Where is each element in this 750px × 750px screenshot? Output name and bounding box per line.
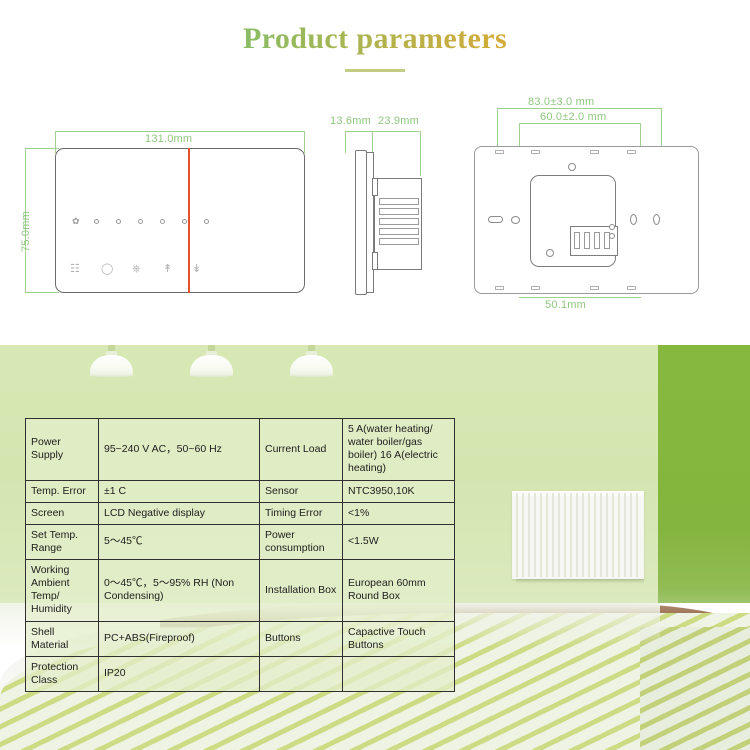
spec-value: 5～45℃	[99, 524, 260, 559]
spec-value2: Capactive Touch Buttons	[343, 621, 455, 656]
indicator-dot	[94, 219, 99, 224]
terminal-pin	[584, 232, 590, 249]
lamp-rim	[290, 373, 333, 377]
spec-label: Shell Material	[26, 621, 99, 656]
radiator-fin	[606, 493, 608, 577]
rear-screw-slot	[511, 216, 520, 224]
radiator-fin	[540, 493, 542, 577]
spec-value: 95~240 V AC，50~60 Hz	[99, 419, 260, 481]
power-icon[interactable]: ⎈	[132, 262, 141, 276]
side-bezel	[366, 152, 374, 293]
spec-value2	[343, 656, 455, 691]
spec-value: ±1 C	[99, 480, 260, 502]
spec-value2: NTC3950,10K	[343, 480, 455, 502]
thermostat-side-profile	[355, 140, 430, 295]
spec-label2: Power consumption	[260, 524, 343, 559]
table-row: Set Temp. Range 5～45℃ Power consumption …	[26, 524, 455, 559]
radiator-fin	[516, 493, 518, 577]
side-front-thickness-label: 13.6mm	[330, 115, 371, 127]
rear-center-screw	[568, 163, 576, 171]
spec-table-body: Power Supply 95~240 V AC，50~60 Hz Curren…	[26, 419, 455, 692]
spec-label2: Installation Box	[260, 560, 343, 622]
spec-value2: <1.5W	[343, 524, 455, 559]
rear-outer-dimline	[497, 108, 662, 109]
front-height-ext-top	[25, 148, 59, 149]
radiator-fin	[624, 493, 626, 577]
radiator-fin	[612, 493, 614, 577]
technical-drawings-section: Product parameters 131.0mm 75.0mm ✿	[0, 0, 750, 345]
front-width-ext-left	[55, 131, 56, 153]
chevron-up-icon[interactable]: ↟	[163, 262, 172, 276]
radiator-fin	[558, 493, 560, 577]
front-panel-touch-buttons: ☷ ◯ ⎈ ↟ ↡	[70, 262, 210, 276]
rear-notch	[495, 286, 504, 290]
clock-icon[interactable]: ◯	[101, 262, 113, 276]
product-parameters-page: Product parameters 131.0mm 75.0mm ✿	[0, 0, 750, 750]
indicator-dot	[138, 219, 143, 224]
rear-notch	[531, 286, 540, 290]
rear-inner-width-label: 60.0±2.0 mm	[540, 111, 606, 123]
lamp-rim	[90, 373, 133, 377]
table-row: Power Supply 95~240 V AC，50~60 Hz Curren…	[26, 419, 455, 481]
radiator-fin	[564, 493, 566, 577]
table-row: Shell Material PC+ABS(Fireproof) Buttons…	[26, 621, 455, 656]
terminal-pin	[574, 232, 580, 249]
radiator-fin	[582, 493, 584, 577]
front-width-label: 131.0mm	[145, 133, 192, 145]
side-clip-top	[372, 178, 378, 196]
menu-icon[interactable]: ☷	[70, 262, 80, 276]
front-height-label: 75.0mm	[20, 211, 32, 252]
table-row: Protection Class IP20	[26, 656, 455, 691]
title-underline	[345, 69, 405, 72]
spec-label: Working Ambient Temp/ Humidity	[26, 560, 99, 622]
specifications-table: Power Supply 95~240 V AC，50~60 Hz Curren…	[25, 418, 455, 692]
table-row: Temp. Error ±1 C Sensor NTC3950,10K	[26, 480, 455, 502]
rear-bottom-width-label: 50.1mm	[545, 299, 586, 311]
radiator-fin	[576, 493, 578, 577]
radiator-fin	[618, 493, 620, 577]
leaf-icon: ✿	[72, 218, 80, 225]
spec-label2: Buttons	[260, 621, 343, 656]
column-radiator	[512, 491, 644, 584]
table-row: Screen LCD Negative display Timing Error…	[26, 502, 455, 524]
rear-notch	[495, 150, 504, 154]
spec-value: IP20	[99, 656, 260, 691]
indicator-dot	[160, 219, 165, 224]
spec-label: Set Temp. Range	[26, 524, 99, 559]
front-panel-indicator-dots: ✿	[72, 216, 212, 228]
side-vent-fin	[379, 208, 419, 215]
lamp-rim	[190, 373, 233, 377]
side-vent-fin	[379, 228, 419, 235]
radiator-fin	[588, 493, 590, 577]
indicator-dot	[182, 219, 187, 224]
page-title: Product parameters	[0, 22, 750, 56]
radiator-shadow	[516, 579, 644, 584]
rear-small-hole	[546, 249, 554, 257]
spec-value: PC+ABS(Fireproof)	[99, 621, 260, 656]
spec-label: Temp. Error	[26, 480, 99, 502]
spec-value2: <1%	[343, 502, 455, 524]
indicator-dot	[116, 219, 121, 224]
radiator-fin	[522, 493, 524, 577]
spec-label2: Current Load	[260, 419, 343, 481]
rear-notch	[590, 286, 599, 290]
spec-label: Screen	[26, 502, 99, 524]
radiator-fin	[630, 493, 632, 577]
rear-notch	[590, 150, 599, 154]
rear-small-hole	[609, 224, 615, 230]
rear-notch	[627, 150, 636, 154]
front-height-ext-bottom	[25, 292, 59, 293]
chevron-down-icon[interactable]: ↡	[192, 262, 201, 276]
rear-screw-slot	[488, 216, 503, 223]
side-clip-bottom	[372, 252, 378, 270]
side-back-depth-label: 23.9mm	[378, 115, 419, 127]
radiator-fin	[528, 493, 530, 577]
radiator-fin	[570, 493, 572, 577]
rear-small-hole	[609, 233, 615, 239]
table-row: Working Ambient Temp/ Humidity 0～45℃，5～9…	[26, 560, 455, 622]
terminal-pin	[594, 232, 600, 249]
side-vent-fin	[379, 238, 419, 245]
indicator-dot	[204, 219, 209, 224]
side-front-ext-left	[345, 131, 346, 153]
radiator-fin	[600, 493, 602, 577]
spec-label2: Timing Error	[260, 502, 343, 524]
radiator-fin	[534, 493, 536, 577]
side-back-dimline	[372, 131, 420, 132]
side-vent-fin	[379, 218, 419, 225]
front-width-ext-right	[304, 131, 305, 153]
spec-value2: 5 A(water heating/ water boiler/gas boil…	[343, 419, 455, 481]
radiator-fin	[636, 493, 638, 577]
rear-notch	[627, 286, 636, 290]
rear-screw-slot	[630, 214, 637, 225]
front-width-dimline	[55, 131, 305, 132]
spec-value: 0～45℃，5～95% RH (Non Condensing)	[99, 560, 260, 622]
spec-label: Power Supply	[26, 419, 99, 481]
spec-label: Protection Class	[26, 656, 99, 691]
rear-inner-dimline	[519, 123, 641, 124]
radiator-fin	[546, 493, 548, 577]
spec-value: LCD Negative display	[99, 502, 260, 524]
rear-screw-slot	[653, 214, 660, 225]
radiator-fin	[594, 493, 596, 577]
rear-bottom-dimline	[519, 297, 641, 298]
radiator-fin	[552, 493, 554, 577]
rear-outer-width-label: 83.0±3.0 mm	[528, 96, 594, 108]
spec-label2	[260, 656, 343, 691]
spec-value2: European 60mm Round Box	[343, 560, 455, 622]
spec-label2: Sensor	[260, 480, 343, 502]
rear-notch	[531, 150, 540, 154]
side-front-dimline	[345, 131, 372, 132]
side-vent-fin	[379, 198, 419, 205]
